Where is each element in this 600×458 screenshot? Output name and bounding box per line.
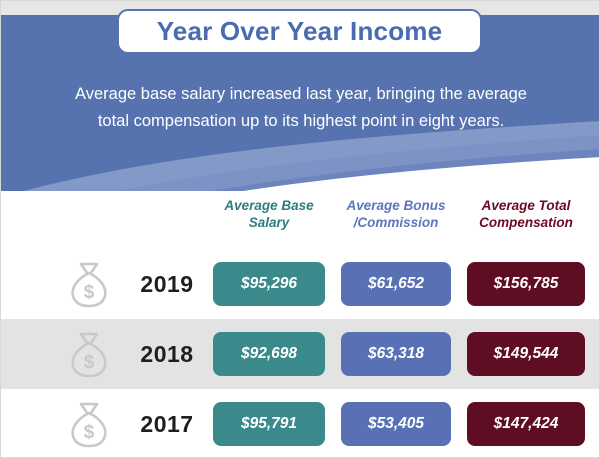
title-pill: Year Over Year Income [117, 9, 482, 54]
infographic-root: Year Over Year Income Average base salar… [0, 0, 600, 458]
table-row: $ 2017 $95,791 $53,405 $147,424 [1, 389, 600, 458]
column-header-total-compensation-line2: Compensation [479, 215, 573, 230]
column-headers: Average Base Salary Average Bonus /Commi… [1, 197, 600, 249]
cell-bonus-commission: $63,318 [341, 332, 451, 376]
money-bag-icon: $ [63, 258, 115, 310]
column-header-bonus-commission-line1: Average Bonus [346, 198, 445, 213]
table-row: $ 2018 $92,698 $63,318 $149,544 [1, 319, 600, 389]
cell-base-salary: $92,698 [213, 332, 325, 376]
cell-base-salary: $95,791 [213, 402, 325, 446]
column-header-total-compensation: Average Total Compensation [461, 197, 591, 231]
column-header-base-salary: Average Base Salary [207, 197, 331, 231]
cell-bonus-commission: $53,405 [341, 402, 451, 446]
column-header-base-salary-line1: Average Base [224, 198, 313, 213]
svg-text:$: $ [84, 282, 95, 303]
money-bag-icon: $ [63, 328, 115, 380]
page-title: Year Over Year Income [157, 16, 443, 47]
row-year: 2019 [125, 271, 209, 298]
cell-total-compensation: $156,785 [467, 262, 585, 306]
column-header-bonus-commission-line2: /Commission [354, 215, 439, 230]
column-header-total-compensation-line1: Average Total [482, 198, 571, 213]
cell-bonus-commission: $61,652 [341, 262, 451, 306]
column-header-base-salary-line2: Salary [249, 215, 290, 230]
row-year: 2018 [125, 341, 209, 368]
cell-total-compensation: $149,544 [467, 332, 585, 376]
cell-base-salary: $95,296 [213, 262, 325, 306]
data-rows: $ 2019 $95,296 $61,652 $156,785 $ 2018 $… [1, 249, 600, 458]
row-year: 2017 [125, 411, 209, 438]
subtitle-line-2: total compensation up to its highest poi… [1, 108, 600, 135]
table-row: $ 2019 $95,296 $61,652 $156,785 [1, 249, 600, 319]
svg-text:$: $ [84, 422, 95, 443]
money-bag-icon: $ [63, 398, 115, 450]
column-header-bonus-commission: Average Bonus /Commission [333, 197, 459, 231]
svg-text:$: $ [84, 352, 95, 373]
subtitle-line-1: Average base salary increased last year,… [1, 81, 600, 108]
subtitle: Average base salary increased last year,… [1, 81, 600, 135]
cell-total-compensation: $147,424 [467, 402, 585, 446]
